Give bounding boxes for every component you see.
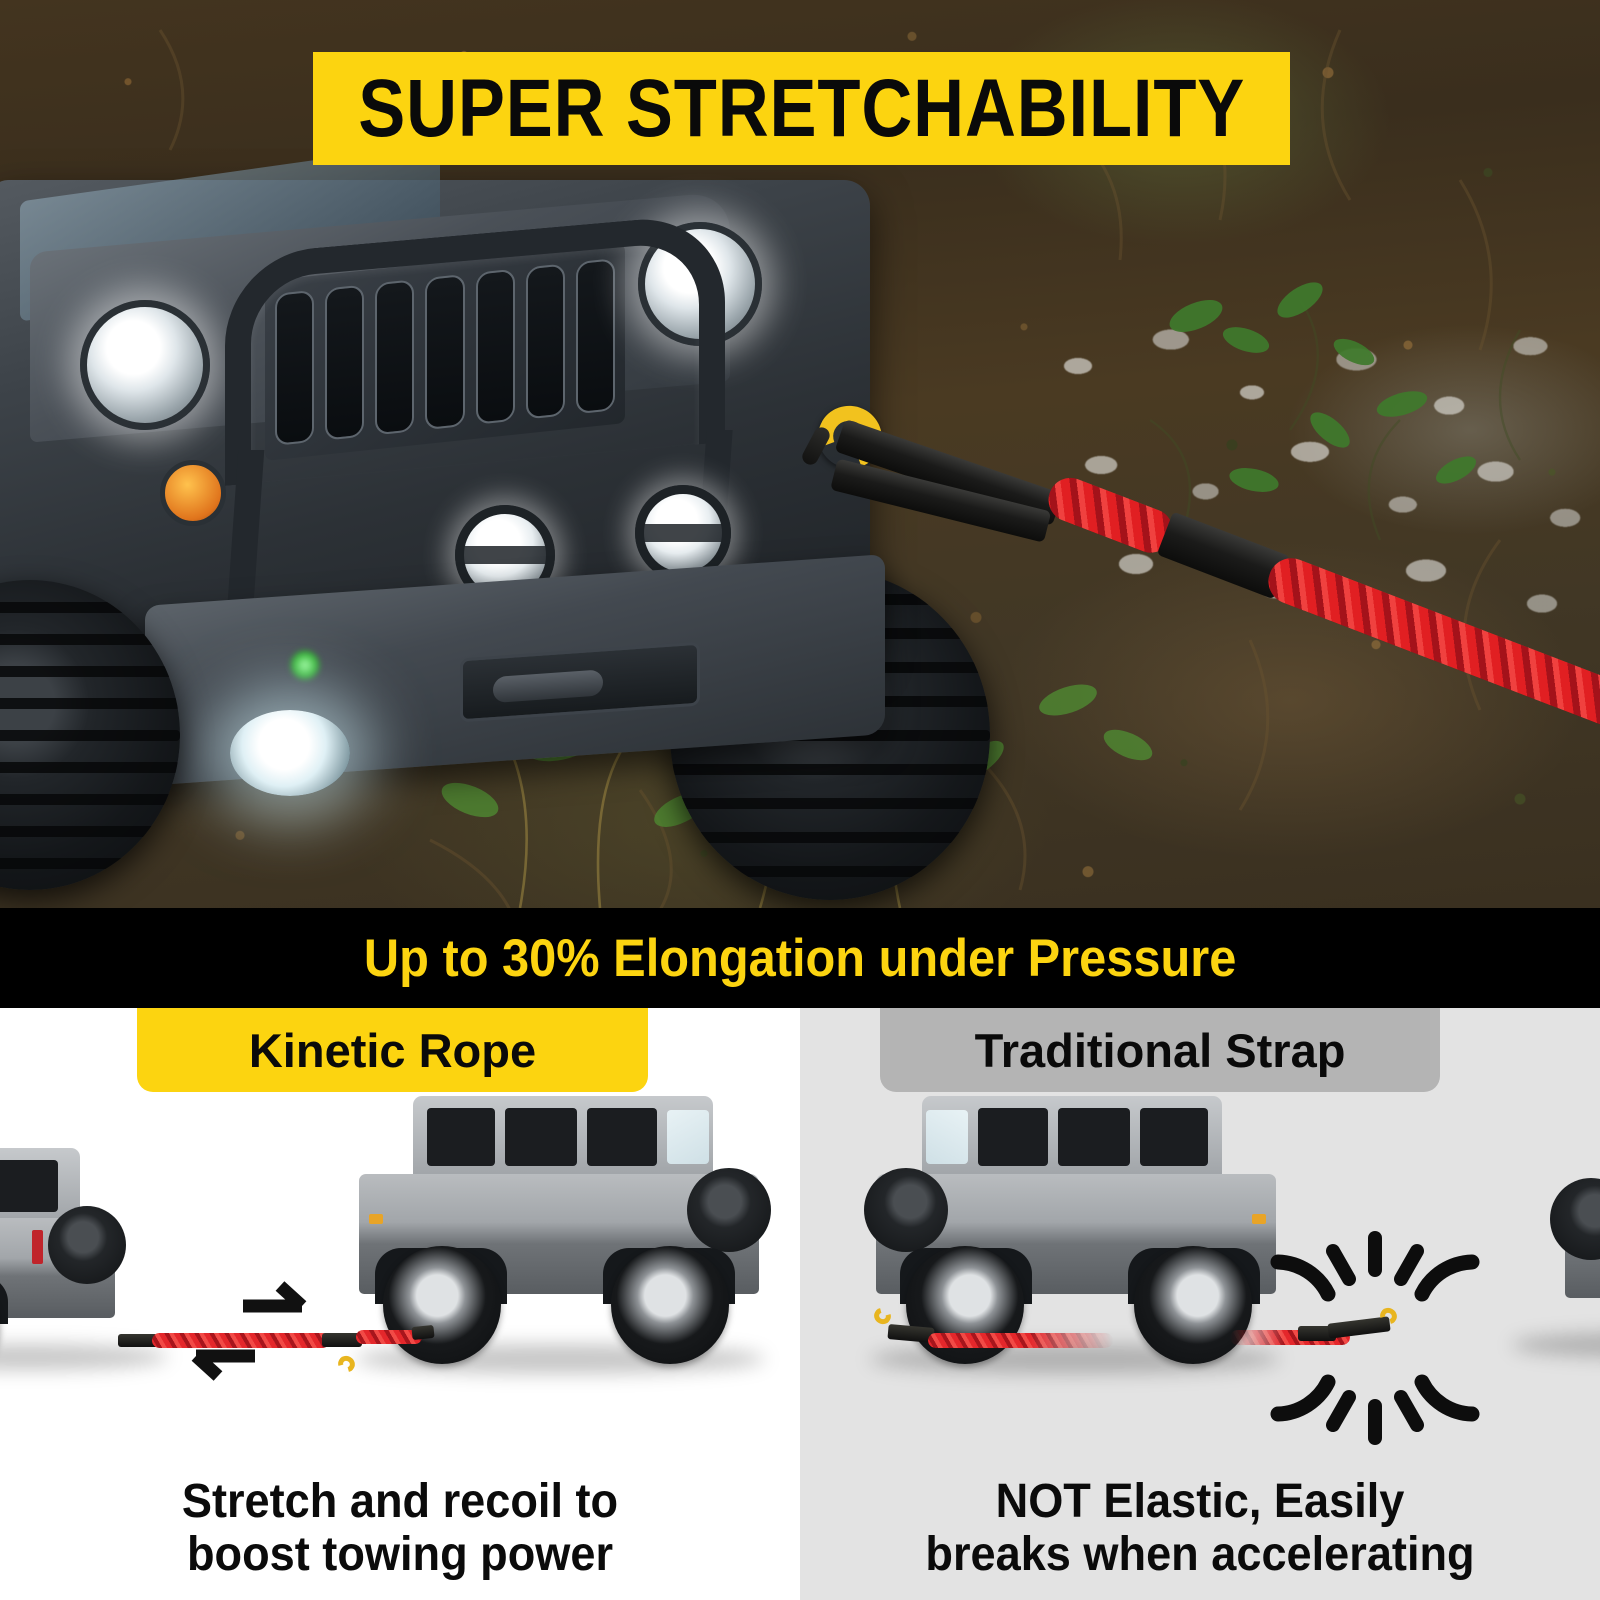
turn-signal-light	[160, 460, 226, 526]
hero-photo: SUPER STRETCHABILITY	[0, 0, 1600, 908]
caption-kinetic-line2: boost towing power	[24, 1528, 776, 1582]
fog-light	[230, 710, 350, 796]
panel-traditional-strap: Traditional Strap	[800, 1008, 1600, 1600]
subtitle-text: Up to 30% Elongation under Pressure	[364, 928, 1236, 989]
caption-traditional-strap: NOT Elastic, Easily breaks when accelera…	[824, 1475, 1576, 1583]
mini-jeep-towed-right	[1490, 1116, 1600, 1366]
title-text: SUPER STRETCHABILITY	[358, 62, 1245, 156]
title-banner: SUPER STRETCHABILITY	[313, 52, 1290, 165]
rope-end-black-right	[411, 1325, 434, 1340]
caption-kinetic-line1: Stretch and recoil to	[24, 1475, 776, 1529]
caption-traditional-line2: breaks when accelerating	[824, 1528, 1576, 1582]
subtitle-band: Up to 30% Elongation under Pressure	[0, 908, 1600, 1008]
tab-kinetic-rope[interactable]: Kinetic Rope	[137, 1008, 648, 1092]
kinetic-rope-assembly	[800, 400, 1600, 680]
comparison-section: Kinetic Rope	[0, 1008, 1600, 1600]
caption-kinetic-rope: Stretch and recoil to boost towing power	[24, 1475, 776, 1583]
rope-stretched-span	[152, 1333, 330, 1348]
product-infographic: SUPER STRETCHABILITY Up to 30% Elongatio…	[0, 0, 1600, 1600]
tab-traditional-strap-label: Traditional Strap	[975, 1023, 1346, 1078]
caption-traditional-line1: NOT Elastic, Easily	[824, 1475, 1576, 1529]
green-lens-flare	[290, 650, 320, 680]
bull-bar	[225, 212, 725, 486]
tab-kinetic-rope-label: Kinetic Rope	[249, 1023, 536, 1078]
tab-traditional-strap[interactable]: Traditional Strap	[880, 1008, 1440, 1092]
broken-rope-left-span	[928, 1333, 1113, 1348]
panel-kinetic-rope: Kinetic Rope	[0, 1008, 800, 1600]
headlight-left	[80, 300, 210, 430]
